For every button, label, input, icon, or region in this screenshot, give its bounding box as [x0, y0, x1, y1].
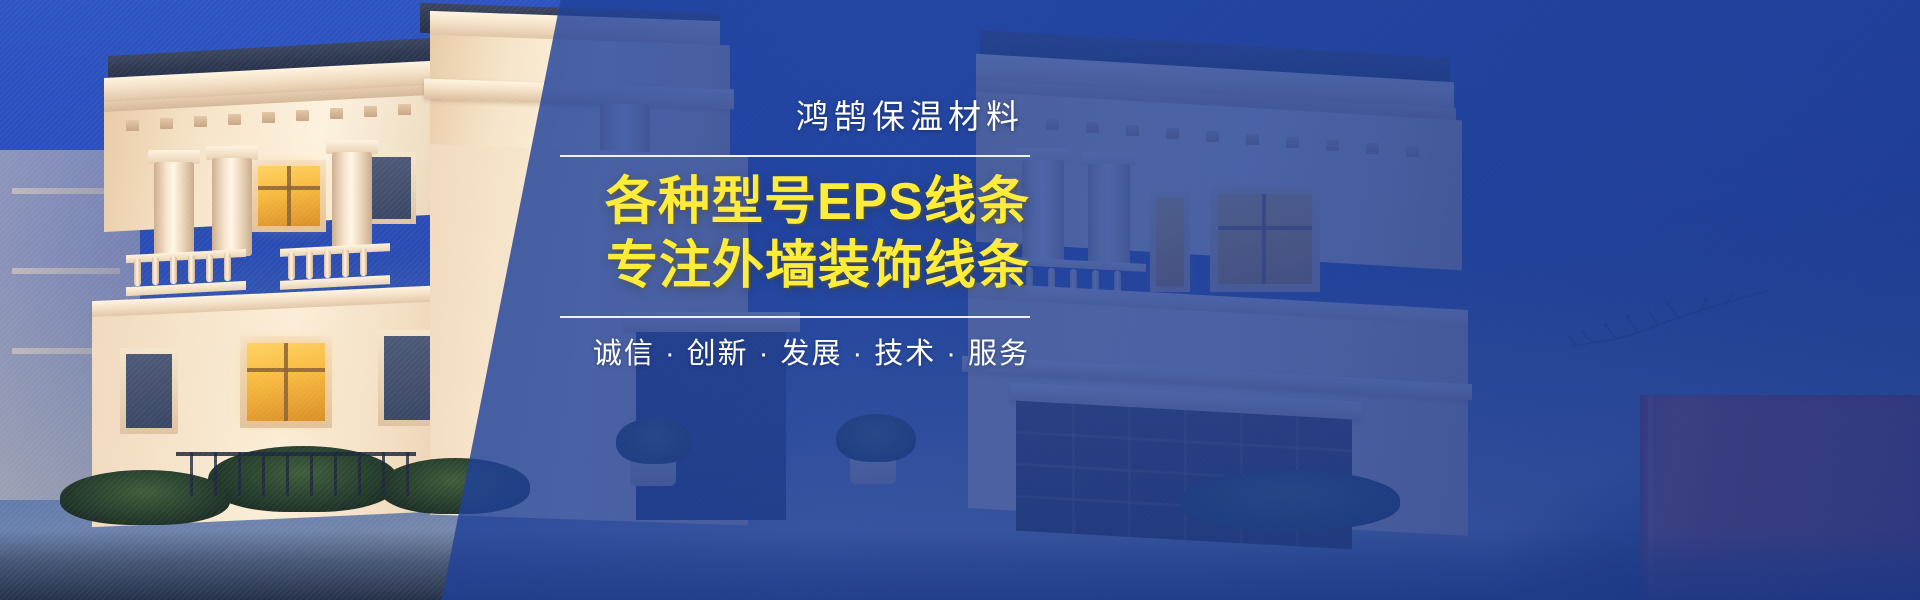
dark-window — [126, 354, 172, 428]
adjacent-building-band — [12, 268, 120, 274]
column — [1088, 164, 1130, 268]
column — [154, 162, 194, 258]
shrub — [60, 470, 230, 525]
column — [332, 152, 372, 252]
lit-window — [1156, 198, 1184, 286]
foreground-ground — [0, 530, 1920, 600]
divider-top — [560, 155, 1030, 157]
brand-name: 鸿鹄保温材料 — [560, 96, 1024, 137]
iron-railing — [176, 452, 416, 456]
divider-bottom — [560, 316, 1030, 318]
shrub — [616, 418, 692, 464]
banner-text-block: 鸿鹄保温材料 各种型号EPS线条 专注外墙装饰线条 诚信 · 创新 · 发展 ·… — [560, 96, 1030, 373]
shrub — [380, 458, 530, 514]
shrub — [1180, 470, 1400, 530]
headline-line-1: 各种型号EPS线条 — [560, 173, 1030, 231]
hero-banner: 鸿鹄保温材料 各种型号EPS线条 专注外墙装饰线条 诚信 · 创新 · 发展 ·… — [0, 0, 1920, 600]
shrub — [836, 414, 916, 462]
headline-line-2: 专注外墙装饰线条 — [560, 237, 1030, 295]
tagline: 诚信 · 创新 · 发展 · 技术 · 服务 — [560, 336, 1030, 374]
column — [212, 158, 252, 256]
